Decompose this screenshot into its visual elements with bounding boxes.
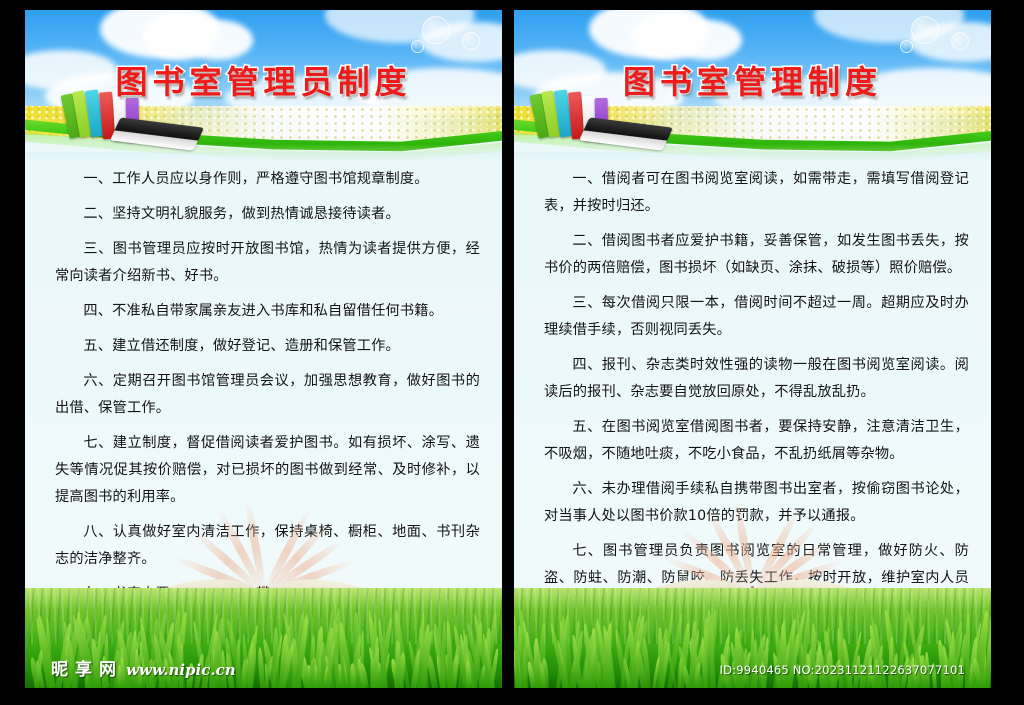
rule-paragraph: 六、定期召开图书馆管理员会议，加强思想教育，做好图书的出借、保管工作。 (55, 368, 480, 422)
rule-paragraph: 一、借阅者可在图书阅览室阅读，如需带走，需填写借阅登记表，并按时归还。 (544, 166, 969, 220)
bubble-icon (900, 40, 913, 53)
rule-paragraph: 三、每次借阅只限一本，借阅时间不超过一周。超期应及时办理续借手续，否则视同丢失。 (544, 290, 969, 344)
rule-paragraph: 五、在图书阅览室借阅图书者，要保持安静，注意清洁卫生，不吸烟，不随地吐痰，不吃小… (544, 414, 969, 468)
bubble-icon (911, 16, 939, 44)
rule-paragraph: 四、报刊、杂志类时效性强的读物一般在图书阅览室阅读。阅读后的报刊、杂志要自觉放回… (544, 352, 969, 406)
poster-title-left: 图书室管理员制度 (25, 57, 502, 103)
watermark-logo-char: 享 (73, 660, 94, 680)
grass-blade (750, 628, 755, 688)
rule-paragraph: 二、坚持文明礼貌服务，做到热情诚恳接待读者。 (55, 201, 480, 228)
book-icon-lying (579, 117, 673, 150)
watermark-logo: 昵 享 网 (49, 660, 118, 680)
poster-title-right: 图书室管理制度 (514, 57, 991, 103)
rule-paragraph: 五、建立借还制度，做好登记、造册和保管工作。 (55, 333, 480, 360)
rule-paragraph: 四、不准私自带家属亲友进入书库和私自留借任何书籍。 (55, 298, 480, 325)
bubble-icon (951, 32, 969, 50)
rule-paragraph: 二、借阅图书者应爱护书籍，妥善保管，如发生图书丢失，按书价的两倍赔偿，图书损坏（… (544, 228, 969, 282)
watermark-logo-char: 网 (97, 660, 118, 680)
watermark-left: 昵 享 网 www.nipic.cn (49, 660, 236, 680)
cloud-shape (183, 20, 253, 60)
rule-paragraph: 六、未办理借阅手续私自携带图书出室者，按偷窃图书论处，对当事人处以图书价款10倍… (544, 476, 969, 530)
rules-list-right: 一、借阅者可在图书阅览室阅读，如需带走，需填写借阅登记表，并按时归还。 二、借阅… (544, 166, 969, 627)
book-icon-lying (110, 117, 204, 150)
bubble-icon (422, 16, 450, 44)
poster-panel-right: 图书室管理制度 一、借阅者可在图书阅览室阅读，如需带走，需填写借阅登记表，并按时… (514, 10, 991, 688)
bubble-icon (462, 32, 480, 50)
watermark-logo-char: 昵 (49, 660, 70, 680)
rule-paragraph: 一、工作人员应以身作则，严格遵守图书馆规章制度。 (55, 166, 480, 193)
poster-canvas: 图书室管理员制度 一、工作人员应以身作则，严格遵守图书馆规章制度。 二、坚持文明… (0, 0, 1024, 705)
bubble-icon (411, 40, 424, 53)
watermark-url: www.nipic.cn (126, 661, 236, 679)
cloud-shape (672, 20, 742, 60)
rule-paragraph: 三、图书管理员应按时开放图书馆，热情为读者提供方便，经常向读者介绍新书、好书。 (55, 236, 480, 290)
poster-panel-left: 图书室管理员制度 一、工作人员应以身作则，严格遵守图书馆规章制度。 二、坚持文明… (25, 10, 502, 688)
watermark-id-line: ID:9940465 NO:20231121122637077101 (720, 663, 965, 677)
rule-paragraph: 八、认真做好室内清洁工作，保持桌椅、橱柜、地面、书刊杂志的洁净整齐。 (55, 519, 480, 573)
grass-blade (273, 627, 279, 688)
rule-paragraph: 七、建立制度，督促借阅读者爱护图书。如有损坏、涂写、遗失等情况促其按价赔偿，对已… (55, 430, 480, 511)
